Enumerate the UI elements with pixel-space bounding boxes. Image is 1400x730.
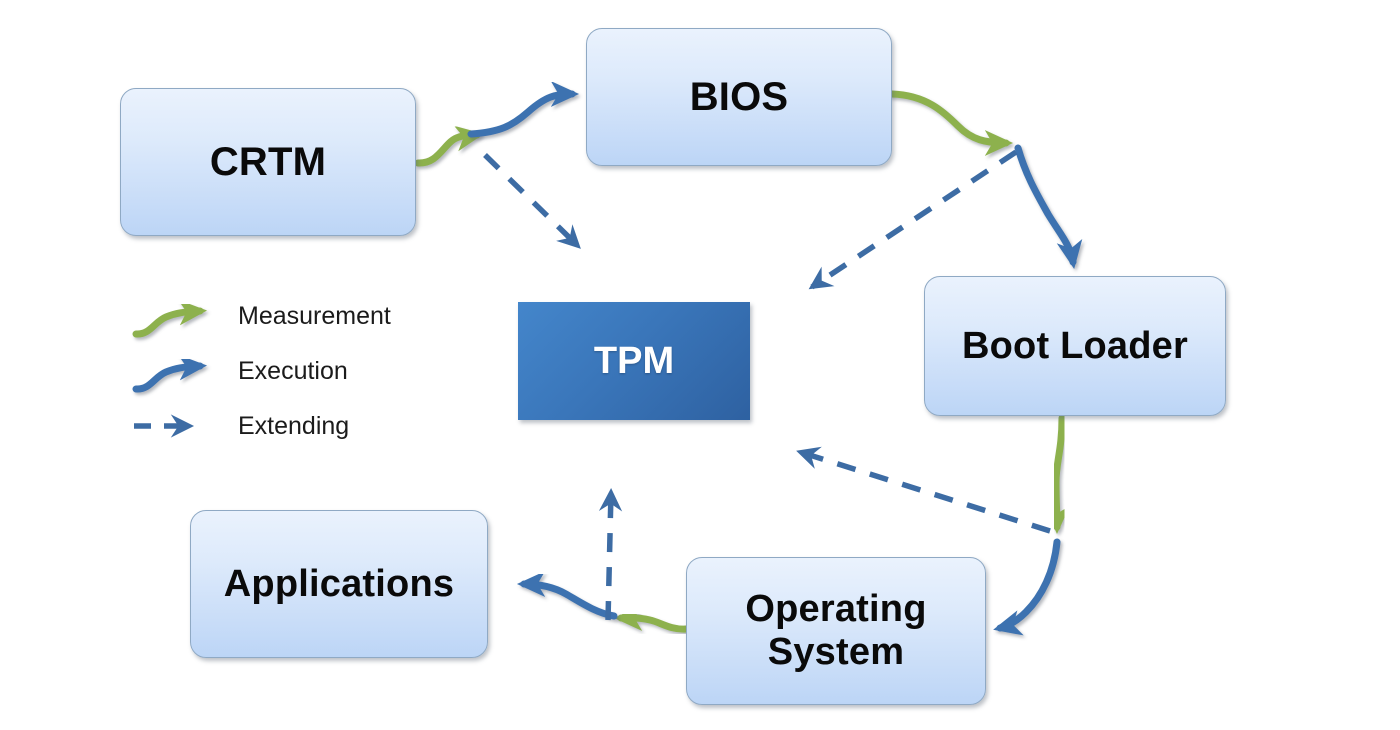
- edge-bios-bootloader-measurement: [892, 94, 1006, 143]
- node-applications[interactable]: Applications: [190, 510, 488, 658]
- node-boot-loader[interactable]: Boot Loader: [924, 276, 1226, 416]
- legend-item-measurement: Measurement: [128, 302, 428, 348]
- diagram-canvas: CRTM BIOS Boot Loader TPM Operating Syst…: [0, 0, 1400, 730]
- legend: Measurement Execution Extending: [128, 292, 428, 450]
- edge-bootloader-os-execution: [1000, 542, 1057, 628]
- extending-arrow-icon: [128, 398, 228, 454]
- legend-label-extending: Extending: [238, 412, 349, 441]
- edge-bootloader-os-measurement: [1056, 418, 1062, 527]
- edge-bios-tpm-extending: [812, 152, 1016, 287]
- node-tpm-label: TPM: [594, 340, 674, 383]
- legend-label-measurement: Measurement: [238, 302, 391, 331]
- execution-arrow-icon: [128, 343, 228, 399]
- edge-crtm-bios-measurement: [418, 135, 477, 163]
- edge-os-applications-execution: [524, 584, 614, 616]
- node-crtm-label: CRTM: [210, 140, 326, 185]
- node-operating-system-line2: System: [768, 631, 904, 673]
- node-operating-system-label: Operating System: [745, 588, 926, 673]
- edge-os-tpm-extending: [608, 492, 611, 620]
- legend-label-execution: Execution: [238, 357, 348, 386]
- measurement-arrow-icon: [128, 288, 228, 344]
- legend-item-extending: Extending: [128, 412, 428, 458]
- edge-bootloader-tpm-extending: [800, 452, 1050, 531]
- node-boot-loader-label: Boot Loader: [962, 325, 1188, 368]
- edge-bios-bootloader-execution: [1018, 148, 1073, 262]
- edge-crtm-tpm-extending: [485, 155, 578, 246]
- node-operating-system[interactable]: Operating System: [686, 557, 986, 705]
- node-bios-label: BIOS: [690, 75, 789, 120]
- node-operating-system-line1: Operating: [745, 588, 926, 630]
- node-applications-label: Applications: [224, 563, 454, 606]
- legend-item-execution: Execution: [128, 357, 428, 403]
- node-bios[interactable]: BIOS: [586, 28, 892, 166]
- node-crtm[interactable]: CRTM: [120, 88, 416, 236]
- node-tpm[interactable]: TPM: [518, 302, 750, 420]
- edge-crtm-bios-execution: [471, 94, 572, 134]
- edge-os-applications-measurement: [621, 618, 686, 629]
